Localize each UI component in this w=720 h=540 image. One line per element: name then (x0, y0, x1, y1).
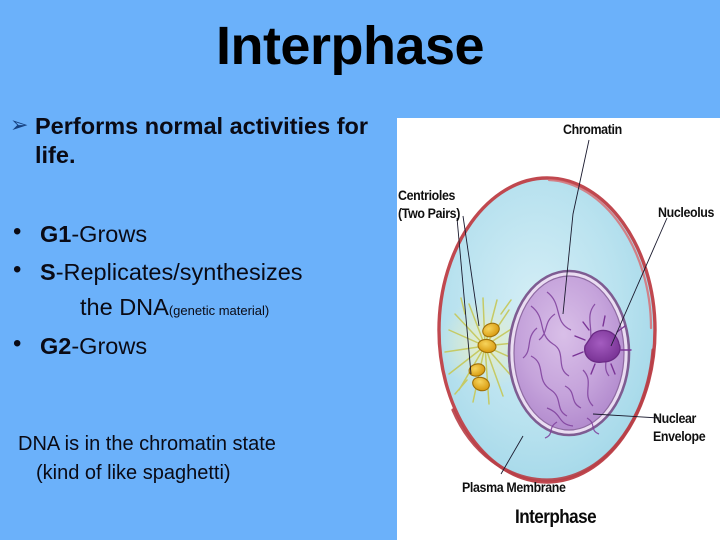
interphase-cell-diagram (397, 118, 720, 540)
figure-label-chromatin: Chromatin (563, 121, 622, 139)
phase-desc-g2: -Grows (71, 333, 147, 359)
phase-name-s: S (40, 259, 56, 285)
continuation-main: the DNA (80, 294, 169, 320)
phase-desc-g1: -Grows (71, 221, 147, 247)
bullet-dot-icon: • (13, 220, 21, 244)
list-item-g1: • G1-Grows (10, 223, 400, 247)
bullet-dot-icon: • (13, 332, 21, 356)
phase-name-g2: G2 (40, 333, 71, 359)
figure-label-nuclear-envelope-line2: Envelope (653, 429, 705, 444)
figure-caption: Interphase (515, 507, 596, 529)
slide-canvas: Interphase ➢ Performs normal activities … (0, 0, 720, 540)
list-item-g2: • G2-Grows (10, 335, 400, 359)
figure-label-nuclear-envelope: Nuclear Envelope (653, 410, 705, 445)
figure-panel: Chromatin Centrioles (Two Pairs) Nucleol… (397, 118, 720, 540)
page-title: Interphase (0, 18, 700, 75)
phase-list: • G1-Grows • S-Replicates/synthesizes th… (10, 223, 400, 373)
closing-note-line2: (kind of like spaghetti) (36, 459, 398, 488)
lead-bullet-text: Performs normal activities for life. (35, 112, 400, 169)
arrow-bullet-icon: ➢ (10, 112, 32, 139)
figure-label-plasma-membrane: Plasma Membrane (462, 479, 566, 497)
closing-note: DNA is in the chromatin state (kind of l… (18, 430, 398, 488)
figure-label-centrioles-line1: Centrioles (398, 188, 455, 203)
bullet-dot-icon: • (13, 258, 21, 282)
closing-note-line1: DNA is in the chromatin state (18, 433, 276, 455)
text-content-column: ➢ Performs normal activities for life. •… (0, 108, 400, 540)
phase-name-g1: G1 (40, 221, 71, 247)
figure-label-nucleolus: Nucleolus (658, 204, 714, 222)
continuation-parenthetical: (genetic material) (169, 303, 269, 318)
continuation-line: the DNA(genetic material) (80, 294, 400, 321)
phase-desc-s: -Replicates/synthesizes (56, 259, 303, 285)
list-item-s: • S-Replicates/synthesizes (10, 261, 400, 285)
figure-label-centrioles: Centrioles (Two Pairs) (398, 187, 460, 222)
figure-label-centrioles-line2: (Two Pairs) (398, 206, 460, 221)
lead-bullet-item: ➢ Performs normal activities for life. (10, 112, 400, 169)
figure-label-nuclear-envelope-line1: Nuclear (653, 411, 696, 426)
